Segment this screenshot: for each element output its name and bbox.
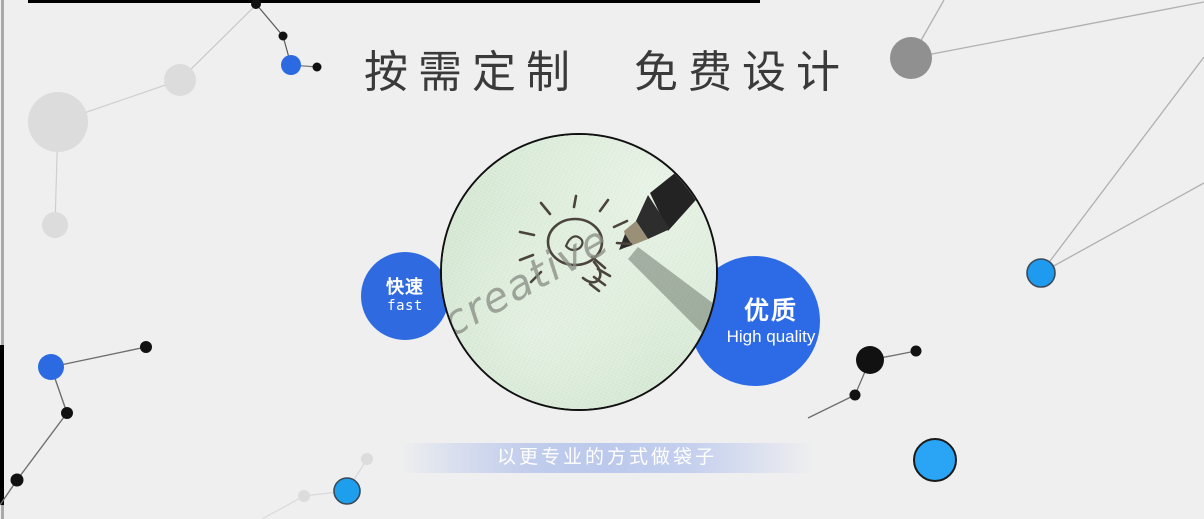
node-grey-small xyxy=(42,212,68,238)
bubble-quality-label-en: High quality xyxy=(727,326,816,347)
node-grey-large xyxy=(28,92,88,152)
cluster-bottom-center xyxy=(262,453,373,519)
node-black-g xyxy=(856,346,884,374)
node-black-i xyxy=(850,390,861,401)
node-black-e xyxy=(61,407,73,419)
cluster-bottom-right xyxy=(808,346,956,482)
node-black-d xyxy=(140,341,152,353)
bubble-quality-label-cn: 优质 xyxy=(744,296,798,326)
pen-shadow xyxy=(628,247,718,349)
node-cyan-bottom-right xyxy=(914,439,956,481)
cluster-top-left xyxy=(28,3,258,238)
node-lightgrey-b xyxy=(361,453,373,465)
node-cyan-bottom xyxy=(334,478,360,504)
node-black-a xyxy=(251,0,261,9)
creative-photo-circle: creative xyxy=(440,133,718,411)
promo-banner: 按需定制 免费设计 xyxy=(0,0,1204,519)
bubble-fast-label-en: fast xyxy=(387,298,423,315)
node-lightgrey-a xyxy=(298,490,310,502)
bubble-fast-label-cn: 快速 xyxy=(386,277,424,298)
page-title: 按需定制 免费设计 xyxy=(0,48,1204,98)
node-black-b xyxy=(279,32,288,41)
node-black-h xyxy=(911,346,922,357)
tagline-ribbon: 以更专业的方式做袋子 xyxy=(400,443,814,473)
cluster-bottom-left xyxy=(0,341,152,505)
node-blue-left xyxy=(38,354,64,380)
feature-bubble-fast: 快速 fast xyxy=(361,252,449,340)
node-cyan-right xyxy=(1027,259,1055,287)
tagline-text: 以更专业的方式做袋子 xyxy=(497,447,717,469)
node-black-f xyxy=(11,474,24,487)
